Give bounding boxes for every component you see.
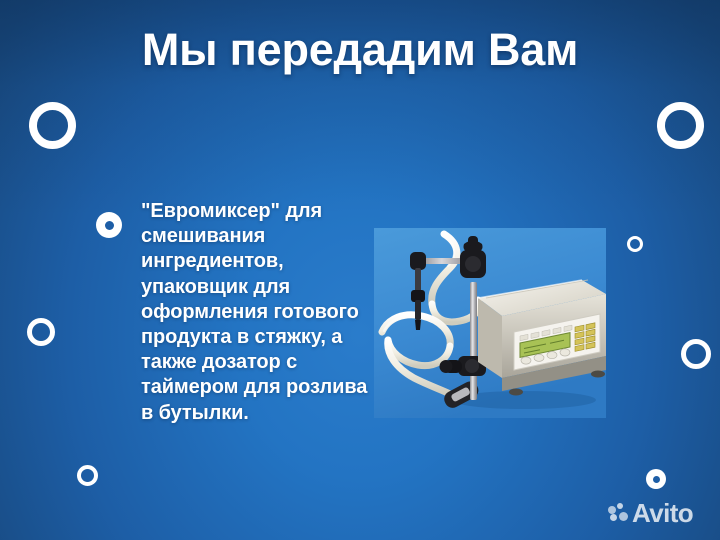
decorative-ring-middle-left xyxy=(27,318,55,346)
decorative-ring-middle-right xyxy=(627,236,643,252)
decorative-ring-bottom-right xyxy=(681,339,711,369)
decorative-ring-top-left xyxy=(29,102,76,149)
avito-wordmark: Avito xyxy=(632,500,693,526)
bullet-point-icon xyxy=(96,212,122,238)
presentation-slide: Мы передадим Вам "Евромиксер" для смешив… xyxy=(0,0,720,540)
avito-watermark: Avito xyxy=(608,500,693,526)
decorative-dot-ring-bottom-right xyxy=(646,469,666,489)
body-paragraph: "Евромиксер" для смешивания ингредиентов… xyxy=(141,199,376,426)
filling-machine-illustration xyxy=(374,228,606,418)
avito-dots-icon xyxy=(608,503,628,523)
decorative-ring-bottom-left xyxy=(77,465,98,486)
product-photo xyxy=(374,228,606,418)
page-title: Мы передадим Вам xyxy=(0,26,720,75)
decorative-ring-top-right xyxy=(657,102,704,149)
